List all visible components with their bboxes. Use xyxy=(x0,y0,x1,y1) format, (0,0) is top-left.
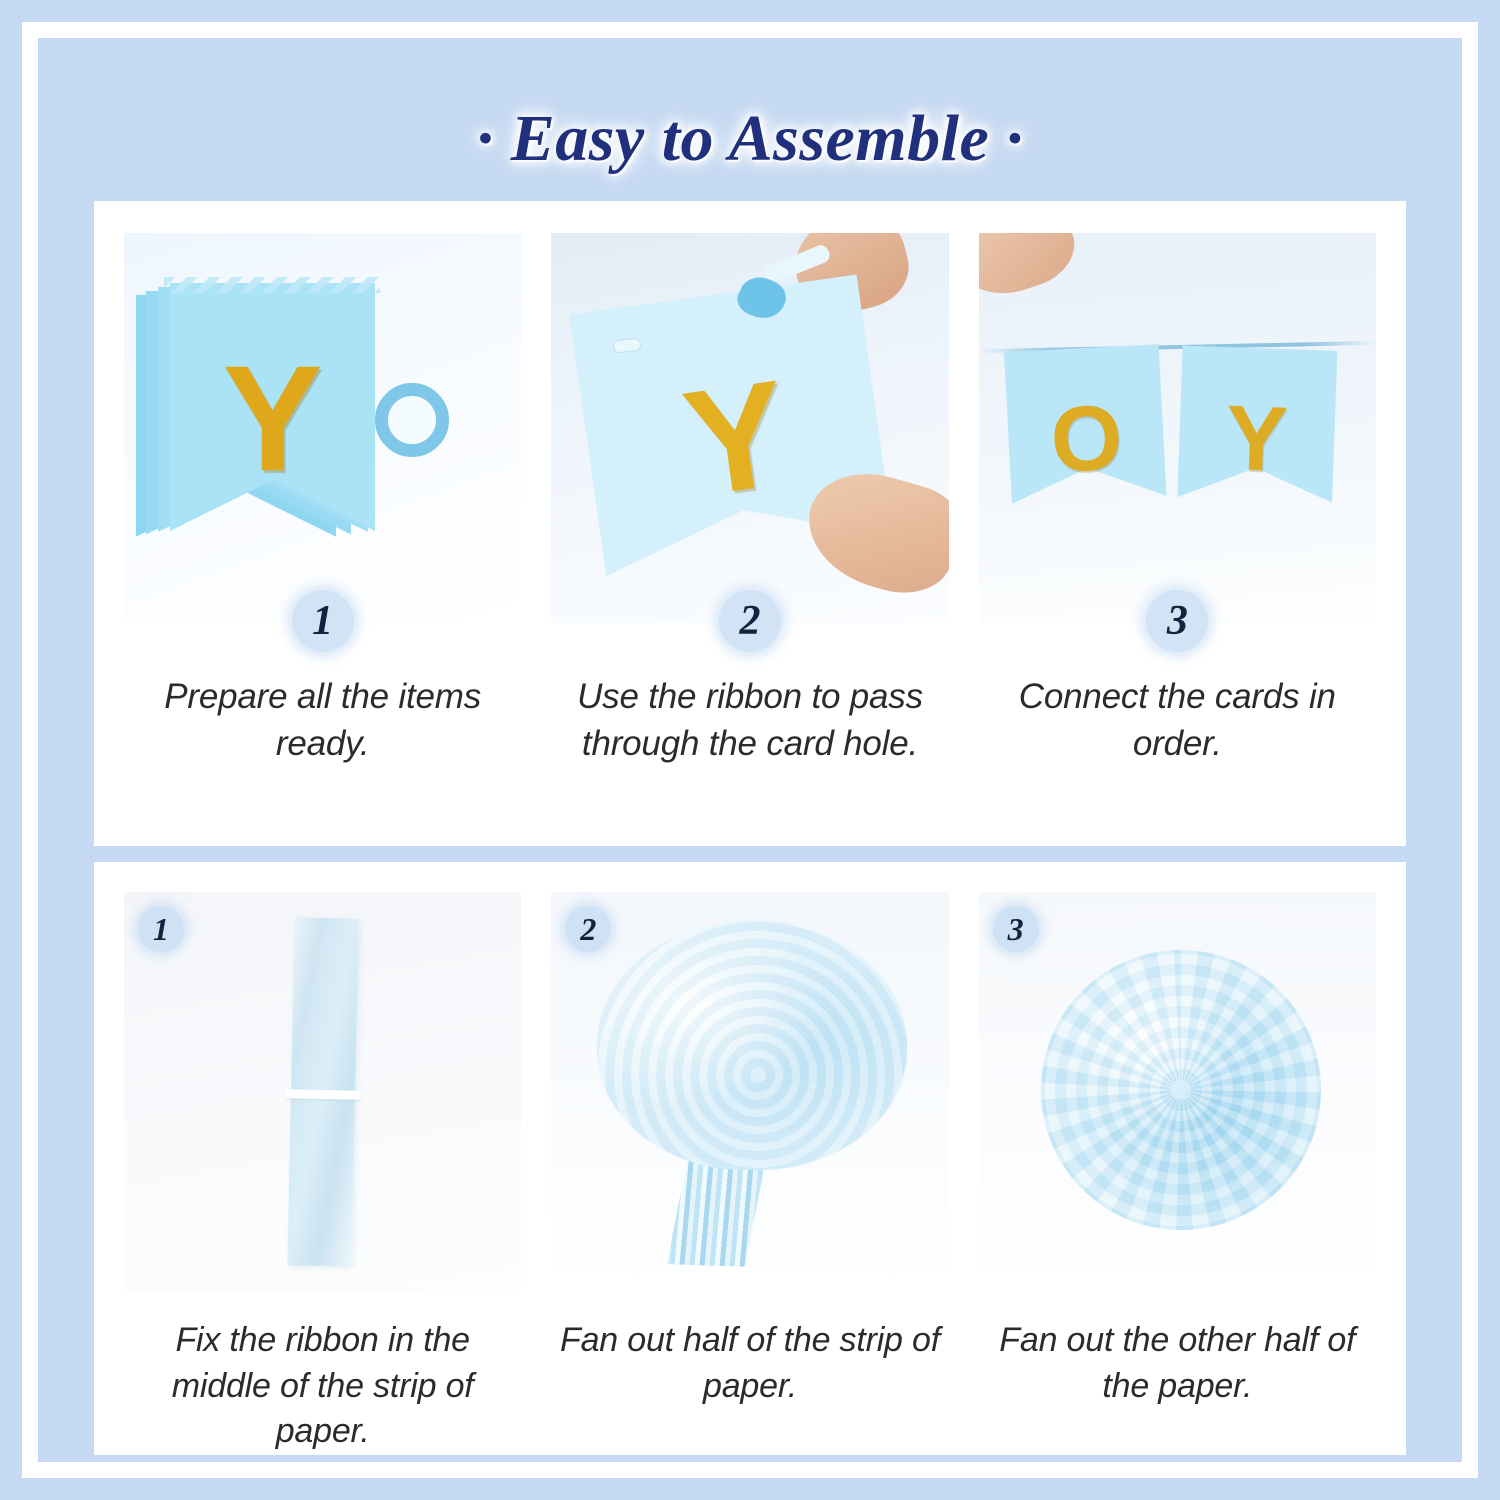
step-caption: Fan out half of the strip of paper. xyxy=(551,1318,948,1409)
step-badge: 3 xyxy=(1146,590,1208,652)
step-caption: Prepare all the items ready. xyxy=(124,674,521,768)
title-bar: · Easy to Assemble · xyxy=(76,76,1424,201)
ribbon-roll-icon xyxy=(375,383,449,457)
step-caption: Connect the cards in order. xyxy=(979,674,1376,768)
card-edge-texture xyxy=(164,277,380,293)
pompom-texture-rings xyxy=(1041,950,1321,1230)
gold-letter-right: Y xyxy=(1177,390,1335,487)
step-badge: 1 xyxy=(138,906,184,952)
pompom-assembly-section: 1 Fix the ribbon in the middle of the st… xyxy=(94,862,1406,1455)
pompom-texture xyxy=(597,920,907,1170)
gold-letter-left: O xyxy=(1006,389,1166,489)
banner-step-2-photo: Y xyxy=(551,233,948,623)
banner-steps-row: Y 1 Prepare all the items ready. xyxy=(124,233,1376,846)
pompom-step-1: 1 Fix the ribbon in the middle of the st… xyxy=(124,892,521,1455)
card-inner: · Easy to Assemble · xyxy=(76,76,1424,1424)
banner-step-2: Y 2 Use the ribbon to pass through the c… xyxy=(551,233,948,846)
step-badge: 3 xyxy=(993,906,1039,952)
pompom-step-3: 3 Fan out the other half of the paper. xyxy=(979,892,1376,1455)
instruction-card: · Easy to Assemble · xyxy=(0,0,1500,1500)
banner-step-1: Y 1 Prepare all the items ready. xyxy=(124,233,521,846)
banner-assembly-section: Y 1 Prepare all the items ready. xyxy=(94,201,1406,846)
banner-step-3: O Y 3 Connect the cards in order. xyxy=(979,233,1376,846)
step-caption: Fix the ribbon in the middle of the stri… xyxy=(124,1318,521,1455)
step-badge: 2 xyxy=(565,906,611,952)
step-badge: 1 xyxy=(292,590,354,652)
banner-step-3-photo: O Y xyxy=(979,233,1376,623)
ribbon-tie xyxy=(285,1089,361,1100)
banner-step-1-photo: Y xyxy=(124,233,521,623)
step-caption: Use the ribbon to pass through the card … xyxy=(551,674,948,768)
frame-blue-border: · Easy to Assemble · xyxy=(38,38,1462,1462)
page-title: · Easy to Assemble · xyxy=(477,101,1024,177)
pompom-step-3-photo: 3 xyxy=(979,892,1376,1292)
pompom-step-2: 2 Fan out half of the strip of paper. xyxy=(551,892,948,1455)
pompom-step-2-photo: 2 xyxy=(551,892,948,1292)
sections-wrapper: Y 1 Prepare all the items ready. xyxy=(76,201,1424,1471)
pompom-step-1-photo: 1 xyxy=(124,892,521,1292)
pompom-steps-row: 1 Fix the ribbon in the middle of the st… xyxy=(124,892,1376,1455)
step-badge: 2 xyxy=(719,590,781,652)
step-caption: Fan out the other half of the paper. xyxy=(979,1318,1376,1409)
gold-letter: Y xyxy=(170,343,375,493)
